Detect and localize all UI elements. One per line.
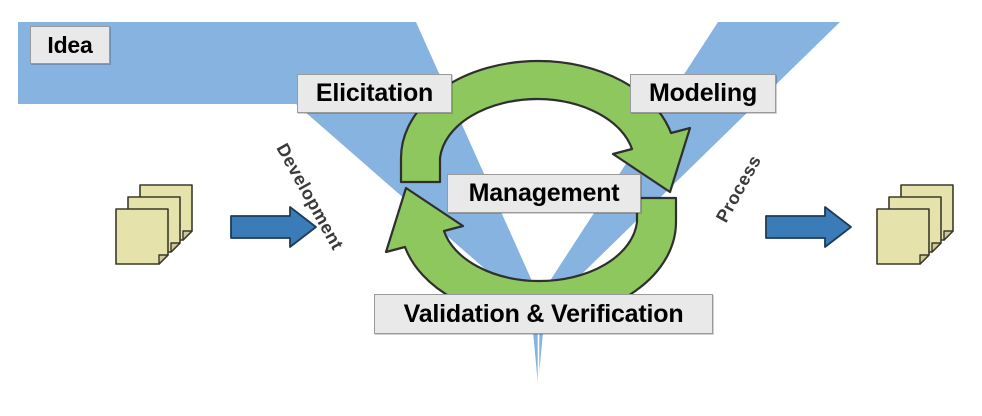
input-document-stack xyxy=(116,185,192,264)
output-document-stack xyxy=(877,185,953,264)
label-validation-verification[interactable]: Validation & Verification xyxy=(374,294,713,334)
label-management[interactable]: Management xyxy=(447,174,641,213)
document-sheet-front xyxy=(116,209,168,264)
label-idea[interactable]: Idea xyxy=(30,26,110,64)
output-flow-arrow xyxy=(766,207,851,247)
label-elicitation[interactable]: Elicitation xyxy=(297,74,452,113)
label-modeling[interactable]: Modeling xyxy=(630,74,776,113)
document-sheet-front xyxy=(877,209,929,264)
input-flow-arrow xyxy=(231,207,316,247)
diagram-canvas: Idea Elicitation Modeling Management Val… xyxy=(0,0,982,416)
